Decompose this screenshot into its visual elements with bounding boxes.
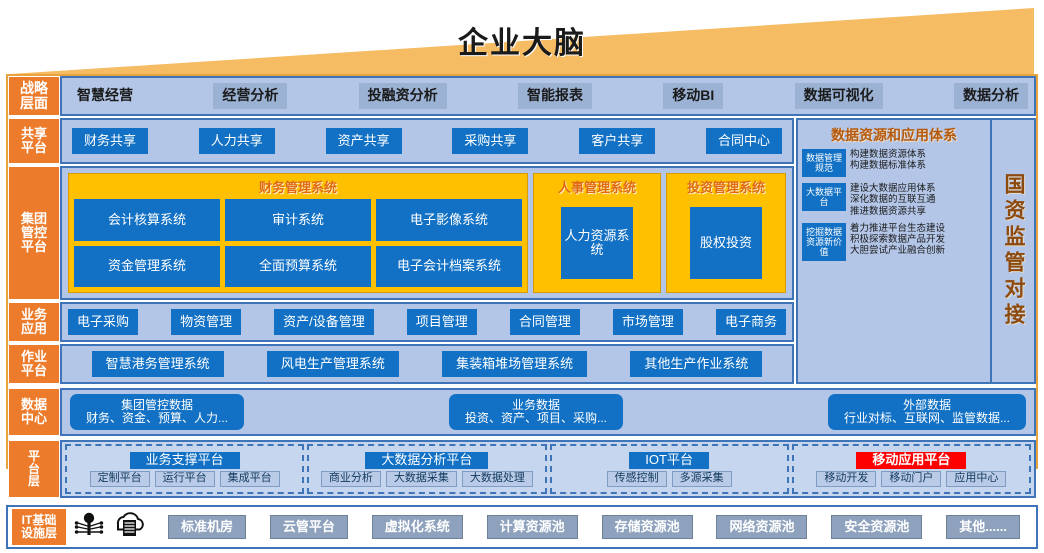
platform-group-subs-3: 移动开发移动门户应用中心 xyxy=(816,471,1006,487)
mid-block: 共享 平台 财务共享人力共享资产共享采购共享客户共享合同中心 集团 管控 平台 … xyxy=(8,118,1036,384)
row-label-platform-layer: 平 台 层 xyxy=(8,440,60,498)
system-card-hr: 人事管理系统 人力资源系统 xyxy=(533,173,661,293)
share-item-3[interactable]: 采购共享 xyxy=(452,128,528,154)
row-label-plat-line3: 层 xyxy=(28,475,40,488)
it-item-6[interactable]: 安全资源池 xyxy=(831,515,922,539)
row-label-group-line1: 集团 xyxy=(21,212,47,226)
data-center-sub-1: 投资、资产、项目、采购... xyxy=(465,412,607,425)
platform-group-title-1[interactable]: 大数据分析平台 xyxy=(365,452,488,469)
share-item-1[interactable]: 人力共享 xyxy=(199,128,275,154)
row-label-group-control: 集团 管控 平台 xyxy=(8,166,60,300)
it-item-2[interactable]: 虚拟化系统 xyxy=(372,515,463,539)
cloud-server-icon xyxy=(112,511,146,544)
row-label-group-line2: 管控 xyxy=(21,226,47,240)
strategy-item-6[interactable]: 数据分析 xyxy=(954,83,1028,109)
state-supervision-label: 国资监管对接 xyxy=(998,173,1028,329)
system-item-0-0[interactable]: 会计核算系统 xyxy=(74,199,220,241)
platform-sub-1-1[interactable]: 大数据采集 xyxy=(386,471,457,487)
row-label-bizapp-line2: 应用 xyxy=(21,322,47,336)
row-it-infrastructure: IT基础 设施层 xyxy=(6,505,1038,549)
row-operation-platform: 作业 平台 智慧港务管理系统风电生产管理系统集装箱堆场管理系统其他生产作业系统 xyxy=(8,344,794,384)
row-label-strategy-line1: 战略 xyxy=(20,81,48,96)
platform-group-subs-1: 商业分析大数据采集大数据处理 xyxy=(321,471,533,487)
row-platform-layer: 平 台 层 业务支撑平台定制平台运行平台集成平台大数据分析平台商业分析大数据采集… xyxy=(8,440,1036,498)
operation-item-3[interactable]: 其他生产作业系统 xyxy=(630,351,762,377)
operation-platform-items: 智慧港务管理系统风电生产管理系统集装箱堆场管理系统其他生产作业系统 xyxy=(60,344,794,384)
row-label-ops-line2: 平台 xyxy=(21,364,47,378)
row-label-data-line2: 中心 xyxy=(21,412,47,426)
operation-item-0[interactable]: 智慧港务管理系统 xyxy=(92,351,224,377)
platform-group-2: IOT平台传感控制多源采集 xyxy=(550,444,789,494)
data-resource-value-2: 着力推进平台生态建设积极探索数据产品开发大胆尝试产业融合创新 xyxy=(846,223,986,257)
system-item-0-3[interactable]: 资金管理系统 xyxy=(74,246,220,288)
row-data-center: 数据 中心 集团管控数据财务、资金、预算、人力...业务数据投资、资产、项目、采… xyxy=(8,388,1036,436)
data-center-item-2[interactable]: 外部数据行业对标、互联网、监管数据... xyxy=(828,394,1026,430)
system-title-hr: 人事管理系统 xyxy=(539,177,655,196)
data-resource-value-0: 构建数据资源体系构建数据标准体系 xyxy=(846,149,986,171)
page-title: 企业大脑 xyxy=(0,18,1044,62)
architecture-diagram: 企业大脑 战略 层面 智慧经营经营分析投融资分析智能报表移动BI数据可视化数据分… xyxy=(0,0,1044,553)
share-item-0[interactable]: 财务共享 xyxy=(72,128,148,154)
strategy-item-0[interactable]: 智慧经营 xyxy=(68,83,142,109)
system-items-finance: 会计核算系统审计系统电子影像系统资金管理系统全面预算系统电子会计档案系统 xyxy=(74,199,522,287)
group-control-panel: 财务管理系统 会计核算系统审计系统电子影像系统资金管理系统全面预算系统电子会计档… xyxy=(60,166,794,300)
row-label-ops-line1: 作业 xyxy=(21,350,47,364)
share-item-4[interactable]: 客户共享 xyxy=(579,128,655,154)
business-app-item-5[interactable]: 市场管理 xyxy=(613,309,683,335)
row-label-it-line2: 设施层 xyxy=(21,527,57,540)
system-card-finance: 财务管理系统 会计核算系统审计系统电子影像系统资金管理系统全面预算系统电子会计档… xyxy=(68,173,528,293)
system-item-2-0[interactable]: 股权投资 xyxy=(690,207,762,279)
platform-sub-2-1[interactable]: 多源采集 xyxy=(672,471,732,487)
platform-group-subs-0: 定制平台运行平台集成平台 xyxy=(90,471,280,487)
row-label-operation-platform: 作业 平台 xyxy=(8,344,60,384)
share-item-2[interactable]: 资产共享 xyxy=(326,128,402,154)
row-label-strategy: 战略 层面 xyxy=(8,76,60,116)
platform-sub-0-0[interactable]: 定制平台 xyxy=(90,471,150,487)
strategy-item-1[interactable]: 经营分析 xyxy=(213,83,287,109)
row-label-data-center: 数据 中心 xyxy=(8,388,60,436)
business-app-item-3[interactable]: 项目管理 xyxy=(407,309,477,335)
data-resource-value-1: 建设大数据应用体系深化数据的互联互通推进数据资源共享 xyxy=(846,183,986,217)
data-resource-key-2[interactable]: 挖掘数据资源新价值 xyxy=(802,223,846,261)
strategy-item-3[interactable]: 智能报表 xyxy=(518,83,592,109)
system-item-1-0[interactable]: 人力资源系统 xyxy=(561,207,633,279)
row-label-data-line1: 数据 xyxy=(21,398,47,412)
platform-sub-1-2[interactable]: 大数据处理 xyxy=(462,471,533,487)
row-label-strategy-line2: 层面 xyxy=(20,96,48,111)
row-label-business-application: 业务 应用 xyxy=(8,302,60,342)
row-label-share-line2: 平台 xyxy=(21,141,47,155)
business-app-item-6[interactable]: 电子商务 xyxy=(716,309,786,335)
platform-sub-0-2[interactable]: 集成平台 xyxy=(220,471,280,487)
system-title-investment: 投资管理系统 xyxy=(672,177,780,196)
system-items-investment: 股权投资 xyxy=(672,199,780,287)
platform-layer-groups: 业务支撑平台定制平台运行平台集成平台大数据分析平台商业分析大数据采集大数据处理I… xyxy=(60,440,1036,498)
data-resource-key-0[interactable]: 数据管理规范 xyxy=(802,149,846,177)
it-infrastructure-items: 标准机房云管平台虚拟化系统计算资源池存储资源池网络资源池安全资源池其他.....… xyxy=(156,515,1032,539)
data-resource-item-0: 数据管理规范构建数据资源体系构建数据标准体系 xyxy=(802,149,986,177)
business-app-item-0[interactable]: 电子采购 xyxy=(68,309,138,335)
platform-sub-2-0[interactable]: 传感控制 xyxy=(607,471,667,487)
it-item-7[interactable]: 其他...... xyxy=(946,515,1020,539)
it-item-4[interactable]: 存储资源池 xyxy=(602,515,693,539)
platform-group-title-2[interactable]: IOT平台 xyxy=(629,452,709,469)
platform-group-title-0[interactable]: 业务支撑平台 xyxy=(130,452,240,469)
row-label-group-line3: 平台 xyxy=(21,240,47,254)
business-application-items: 电子采购物资管理资产/设备管理项目管理合同管理市场管理电子商务 xyxy=(60,302,794,342)
data-resource-main: 数据资源和应用体系 数据管理规范构建数据资源体系构建数据标准体系大数据平台建设大… xyxy=(798,120,990,382)
data-center-items: 集团管控数据财务、资金、预算、人力...业务数据投资、资产、项目、采购...外部… xyxy=(60,388,1036,436)
data-center-item-1[interactable]: 业务数据投资、资产、项目、采购... xyxy=(449,394,623,430)
it-item-5[interactable]: 网络资源池 xyxy=(716,515,807,539)
platform-group-1: 大数据分析平台商业分析大数据采集大数据处理 xyxy=(307,444,546,494)
data-resource-item-2: 挖掘数据资源新价值着力推进平台生态建设积极探索数据产品开发大胆尝试产业融合创新 xyxy=(802,223,986,261)
platform-group-subs-2: 传感控制多源采集 xyxy=(607,471,732,487)
platform-sub-3-2[interactable]: 应用中心 xyxy=(946,471,1006,487)
it-item-3[interactable]: 计算资源池 xyxy=(487,515,578,539)
platform-group-title-3[interactable]: 移动应用平台 xyxy=(856,452,966,469)
strategy-item-5[interactable]: 数据可视化 xyxy=(795,83,883,109)
data-center-sub-0: 财务、资金、预算、人力... xyxy=(86,412,228,425)
row-group-control: 集团 管控 平台 财务管理系统 会计核算系统审计系统电子影像系统资金管理系统全面… xyxy=(8,166,794,300)
data-resource-panel: 数据资源和应用体系 数据管理规范构建数据资源体系构建数据标准体系大数据平台建设大… xyxy=(796,118,1036,384)
data-center-item-0[interactable]: 集团管控数据财务、资金、预算、人力... xyxy=(70,394,244,430)
strategy-item-4[interactable]: 移动BI xyxy=(663,83,723,109)
row-label-share-line1: 共享 xyxy=(21,127,47,141)
system-title-finance: 财务管理系统 xyxy=(74,177,522,196)
it-infrastructure-icons xyxy=(72,511,146,544)
system-item-0-1[interactable]: 审计系统 xyxy=(225,199,371,241)
data-resource-title: 数据资源和应用体系 xyxy=(802,125,986,145)
business-app-item-2[interactable]: 资产/设备管理 xyxy=(274,309,374,335)
strategy-items: 智慧经营经营分析投融资分析智能报表移动BI数据可视化数据分析 xyxy=(60,76,1036,116)
row-strategy: 战略 层面 智慧经营经营分析投融资分析智能报表移动BI数据可视化数据分析 xyxy=(8,76,1036,116)
system-item-0-5[interactable]: 电子会计档案系统 xyxy=(376,246,522,288)
platform-sub-1-0[interactable]: 商业分析 xyxy=(321,471,381,487)
data-center-sub-2: 行业对标、互联网、监管数据... xyxy=(844,412,1010,425)
row-label-plat-line1: 平 xyxy=(28,450,40,463)
business-app-item-1[interactable]: 物资管理 xyxy=(171,309,241,335)
operation-item-2[interactable]: 集装箱堆场管理系统 xyxy=(442,351,587,377)
platform-group-3: 移动应用平台移动开发移动门户应用中心 xyxy=(792,444,1031,494)
system-item-0-2[interactable]: 电子影像系统 xyxy=(376,199,522,241)
strategy-item-2[interactable]: 投融资分析 xyxy=(359,83,447,109)
operation-item-1[interactable]: 风电生产管理系统 xyxy=(267,351,399,377)
row-business-application: 业务 应用 电子采购物资管理资产/设备管理项目管理合同管理市场管理电子商务 xyxy=(8,302,794,342)
platform-sub-3-1[interactable]: 移动门户 xyxy=(881,471,941,487)
mid-left-column: 共享 平台 财务共享人力共享资产共享采购共享客户共享合同中心 集团 管控 平台 … xyxy=(8,118,794,384)
data-resource-key-1[interactable]: 大数据平台 xyxy=(802,183,846,211)
state-supervision-sidebar: 国资监管对接 xyxy=(990,120,1034,382)
platform-sub-0-1[interactable]: 运行平台 xyxy=(155,471,215,487)
network-hub-icon xyxy=(72,511,106,544)
platform-group-0: 业务支撑平台定制平台运行平台集成平台 xyxy=(65,444,304,494)
row-label-share: 共享 平台 xyxy=(8,118,60,164)
row-label-it-infrastructure: IT基础 设施层 xyxy=(12,509,66,545)
platform-sub-3-0[interactable]: 移动开发 xyxy=(816,471,876,487)
business-app-item-4[interactable]: 合同管理 xyxy=(510,309,580,335)
data-resource-item-1: 大数据平台建设大数据应用体系深化数据的互联互通推进数据资源共享 xyxy=(802,183,986,217)
system-item-0-4[interactable]: 全面预算系统 xyxy=(225,246,371,288)
it-item-0[interactable]: 标准机房 xyxy=(168,515,246,539)
it-item-1[interactable]: 云管平台 xyxy=(270,515,348,539)
share-item-5[interactable]: 合同中心 xyxy=(706,128,782,154)
data-resource-items: 数据管理规范构建数据资源体系构建数据标准体系大数据平台建设大数据应用体系深化数据… xyxy=(802,149,986,261)
share-items: 财务共享人力共享资产共享采购共享客户共享合同中心 xyxy=(60,118,794,164)
system-card-investment: 投资管理系统 股权投资 xyxy=(666,173,786,293)
row-share: 共享 平台 财务共享人力共享资产共享采购共享客户共享合同中心 xyxy=(8,118,794,164)
system-items-hr: 人力资源系统 xyxy=(539,199,655,287)
row-label-bizapp-line1: 业务 xyxy=(21,308,47,322)
